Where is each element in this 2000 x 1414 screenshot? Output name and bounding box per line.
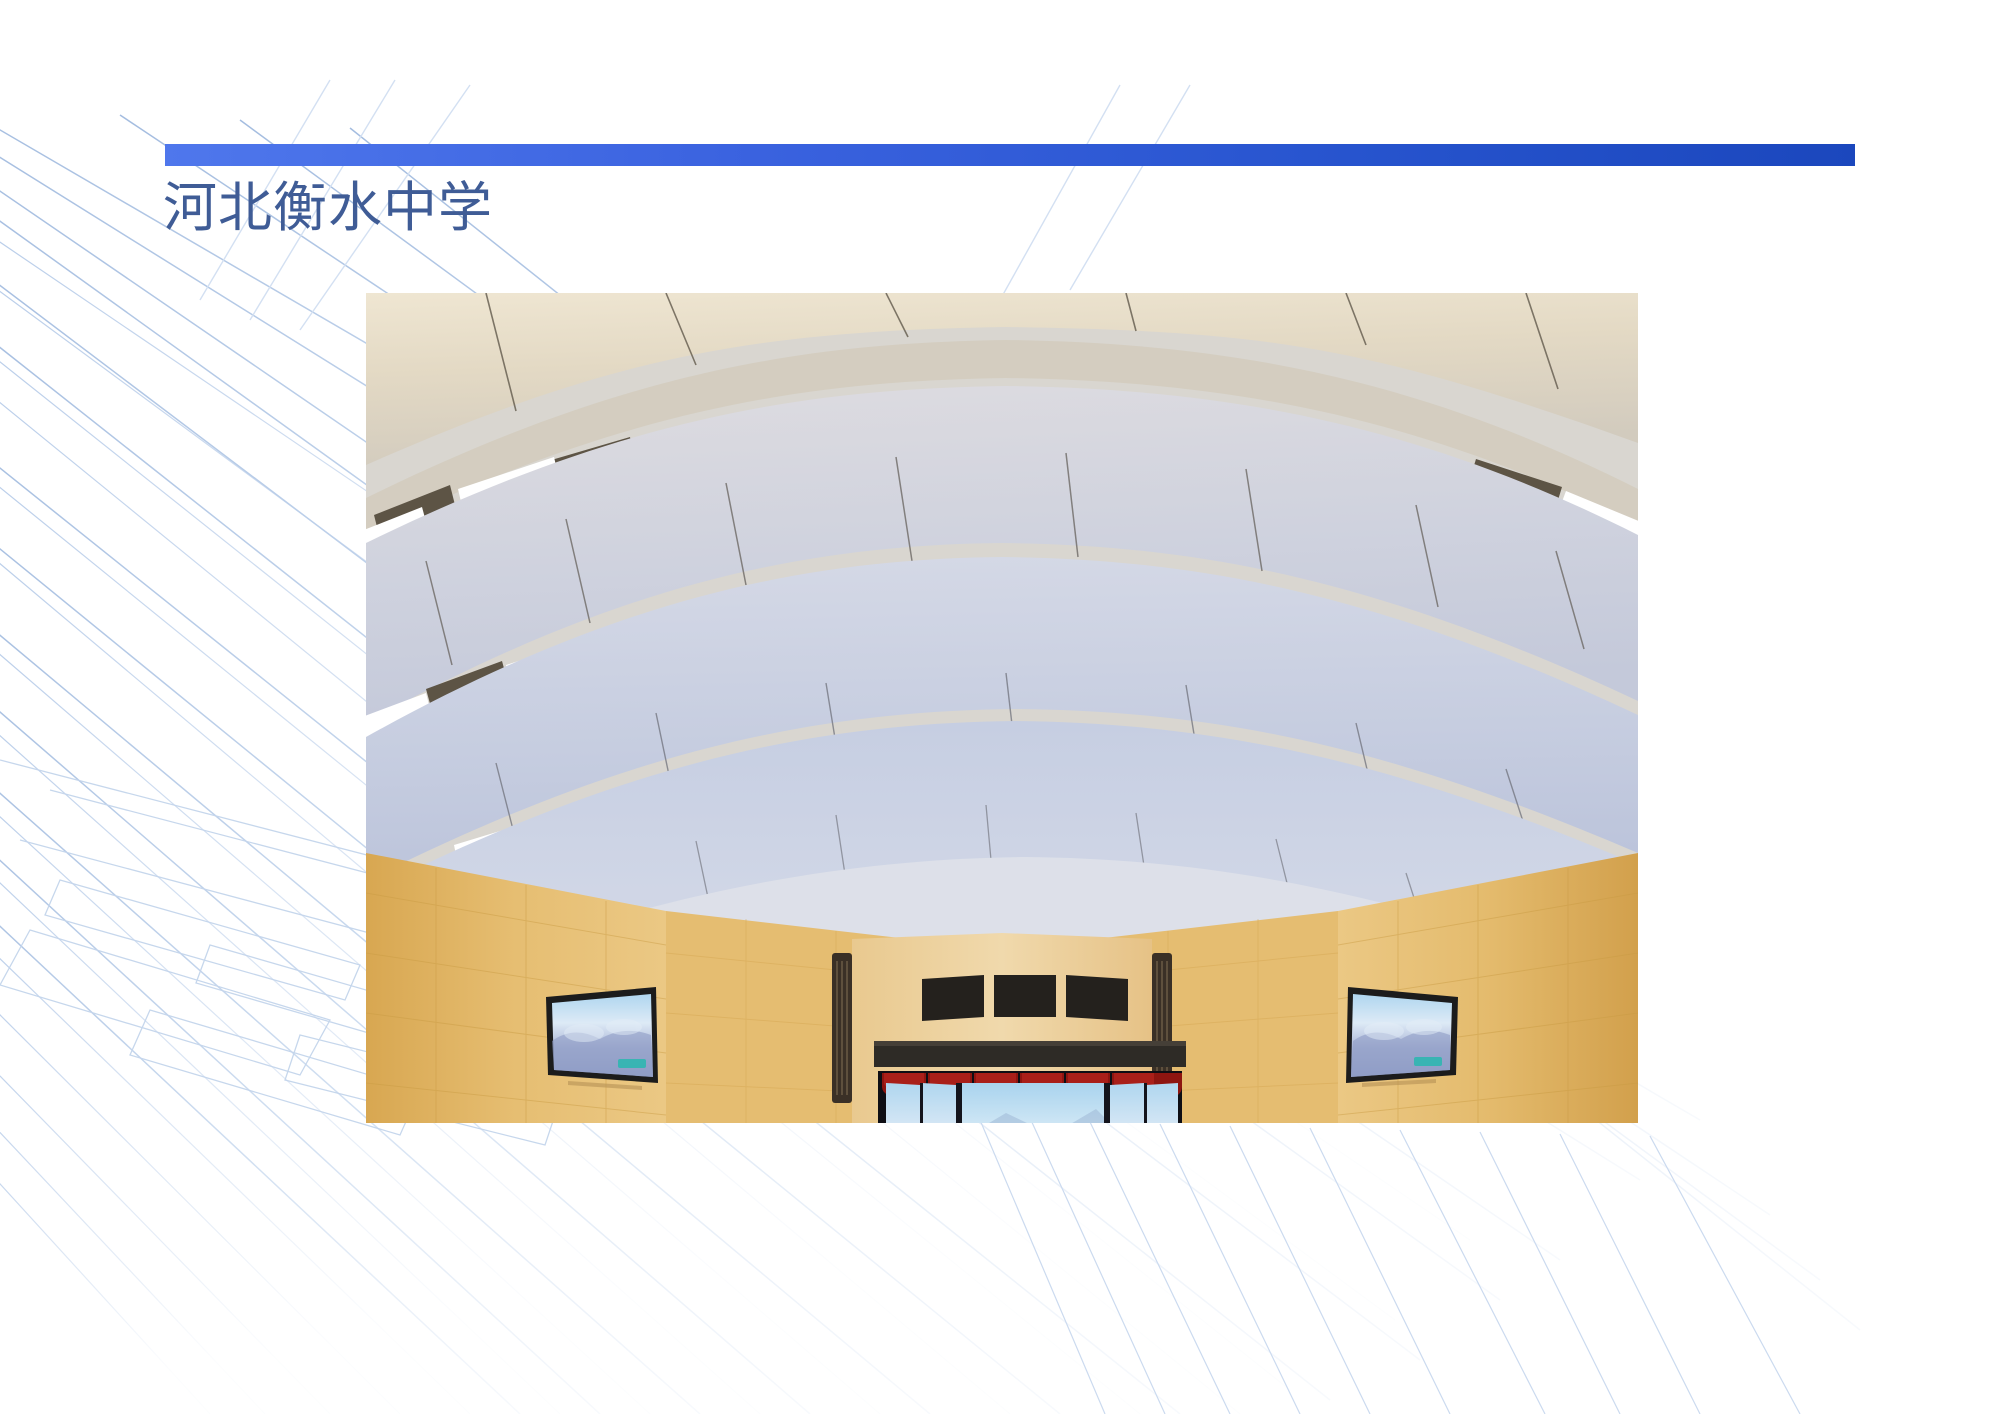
- auditorium-interior-photo: [366, 293, 1638, 1123]
- page-title: 河北衡水中学: [163, 176, 493, 242]
- title-accent-bar: [165, 144, 1855, 166]
- presentation-slide: 河北衡水中学: [0, 0, 2000, 1414]
